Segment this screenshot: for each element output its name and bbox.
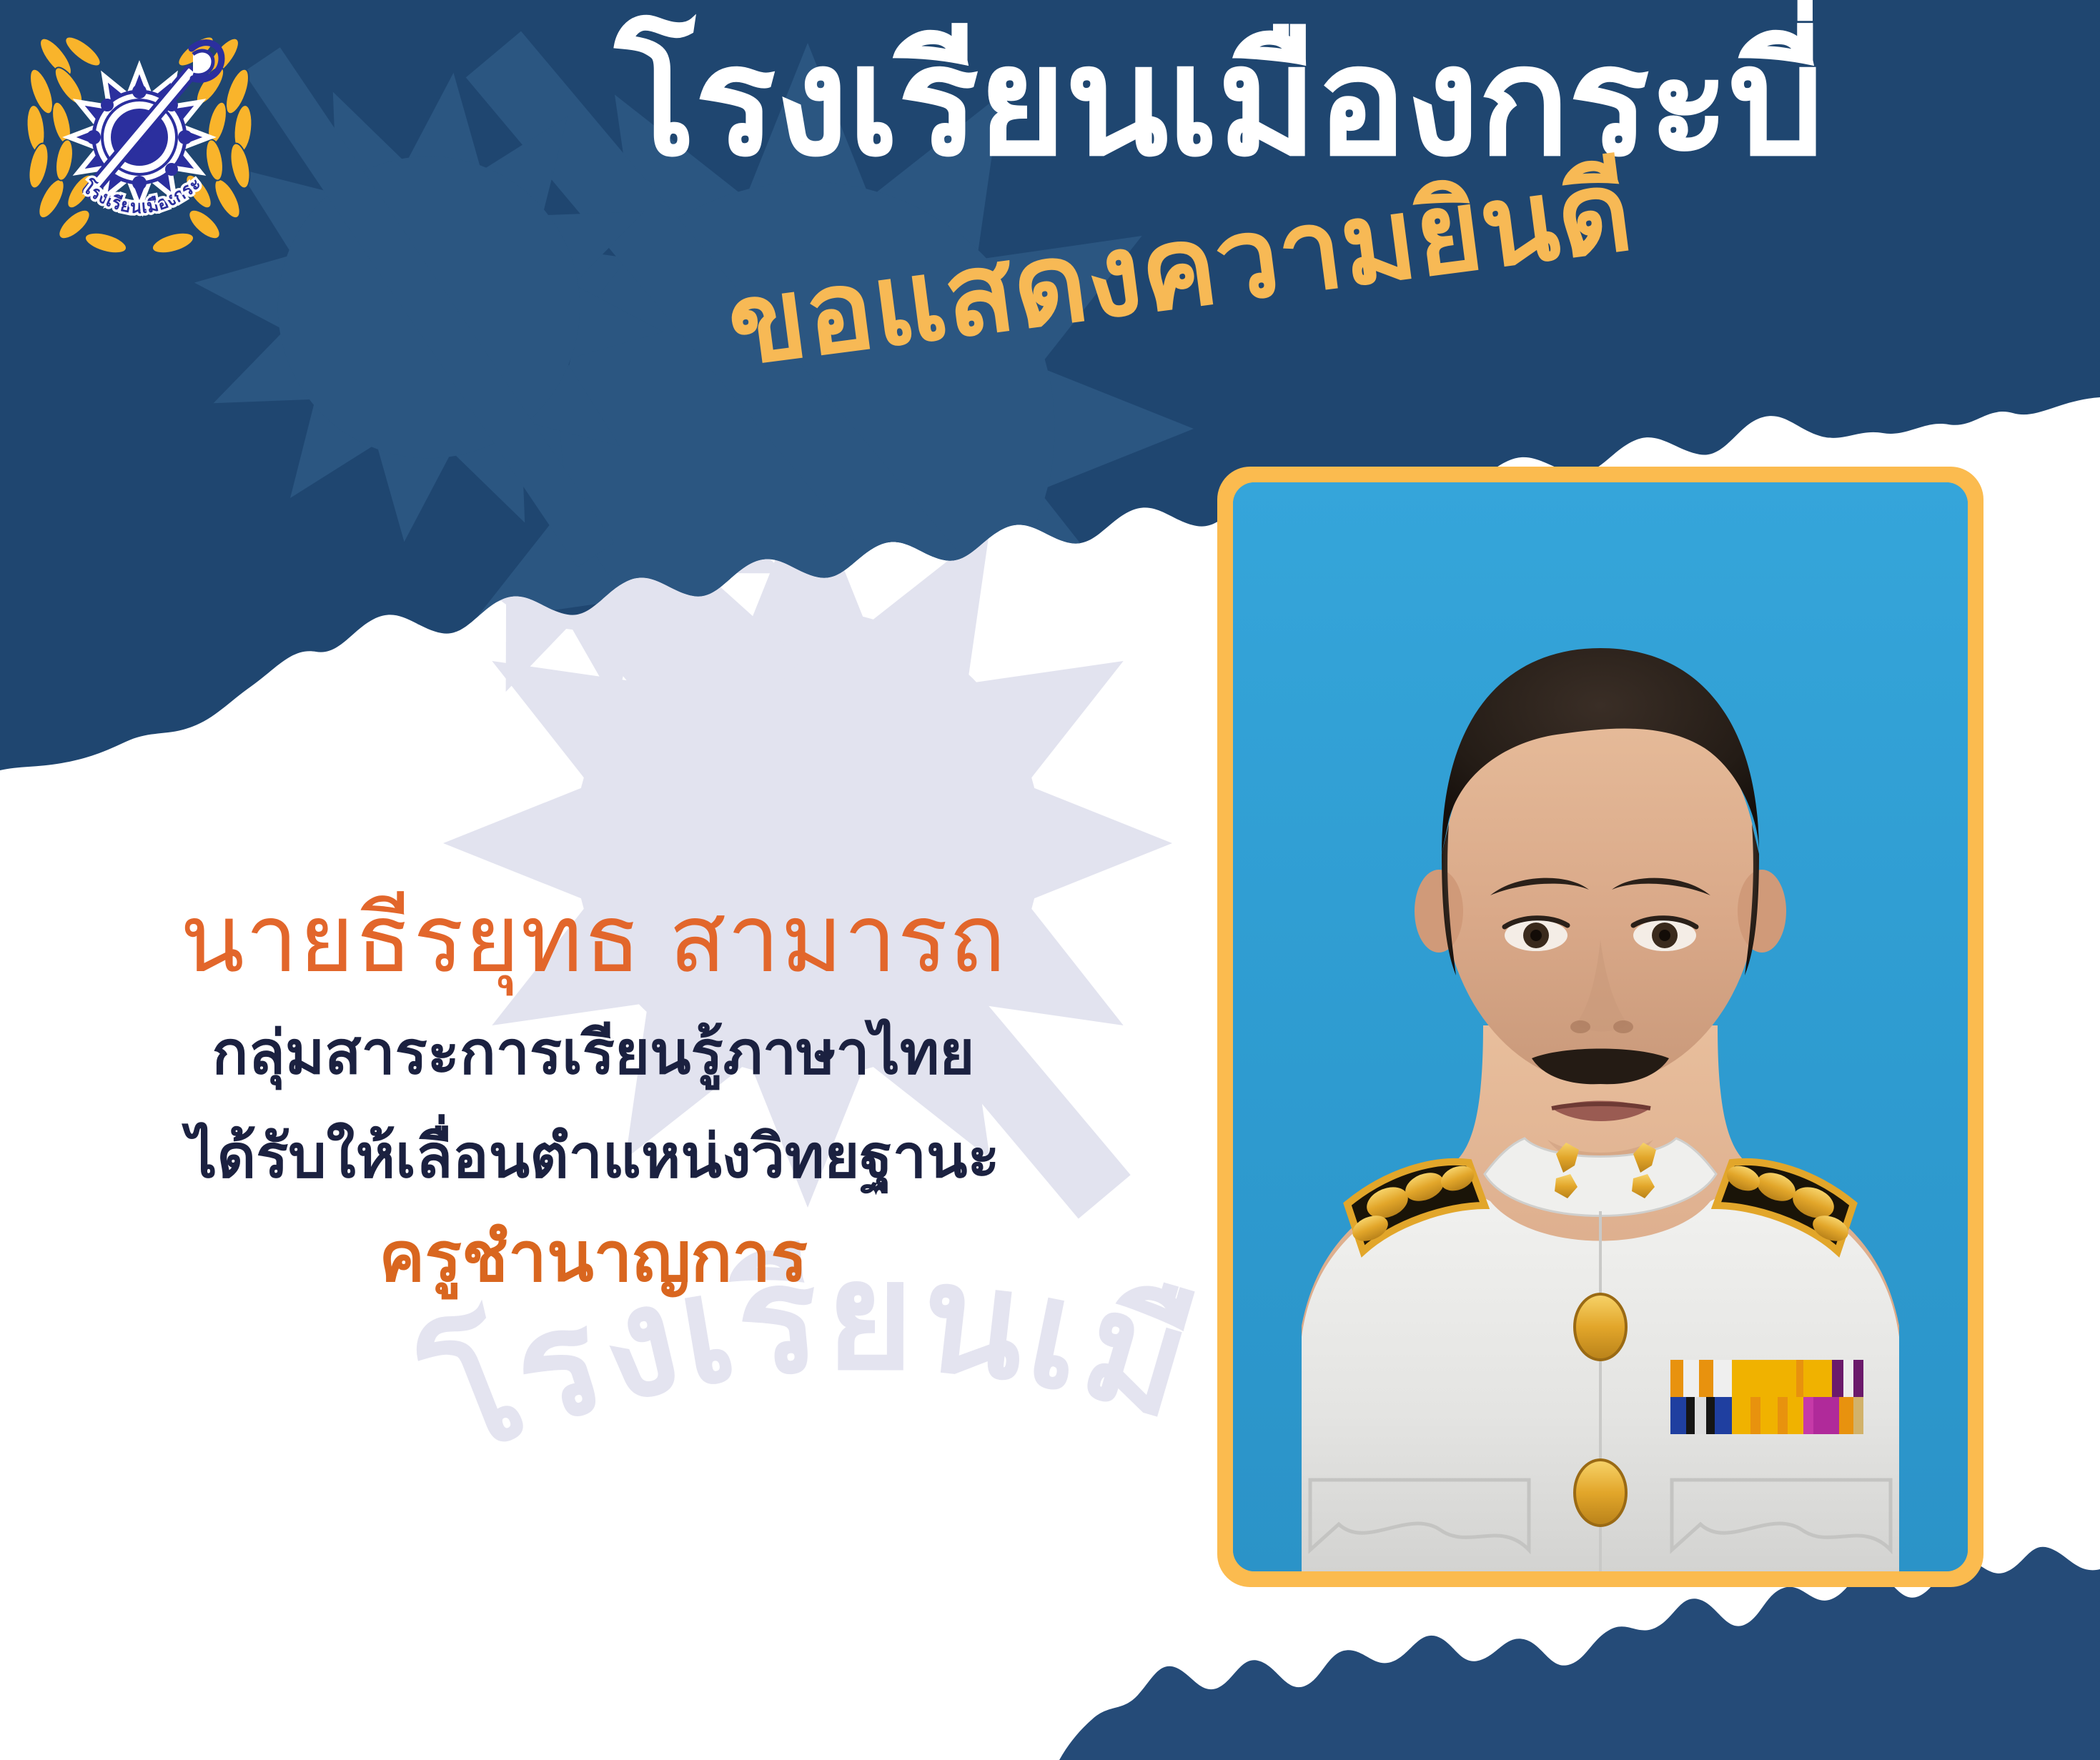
recipient-name: นายธีรยุทธ สามารถ [64, 886, 1122, 992]
card-canvas: โรงเรียนเมือง [0, 0, 2100, 1760]
portrait-illustration [1233, 482, 1968, 1571]
page-title: โรงเรียนเมืองกระบี่ [615, 21, 2016, 182]
portrait-photo-frame [1217, 467, 1983, 1587]
ceremonial-uniform [1302, 1138, 1899, 1571]
new-rank: ครูชำนาญการ [64, 1216, 1122, 1298]
portrait-photo [1233, 482, 1968, 1571]
medal-ribbon-bar [1670, 1360, 1863, 1434]
recipient-info-block: นายธีรยุทธ สามารถ กลุ่มสาระการเรียนรู้ภา… [64, 886, 1122, 1299]
recipient-department: กลุ่มสาระการเรียนรู้ภาษาไทย [64, 1010, 1122, 1095]
school-logo: โรงเรียนเมืองกระบี่ [14, 7, 264, 257]
promotion-announcement: ได้รับให้เลื่อนตำแหน่งวิทยฐานะ [64, 1114, 1122, 1199]
